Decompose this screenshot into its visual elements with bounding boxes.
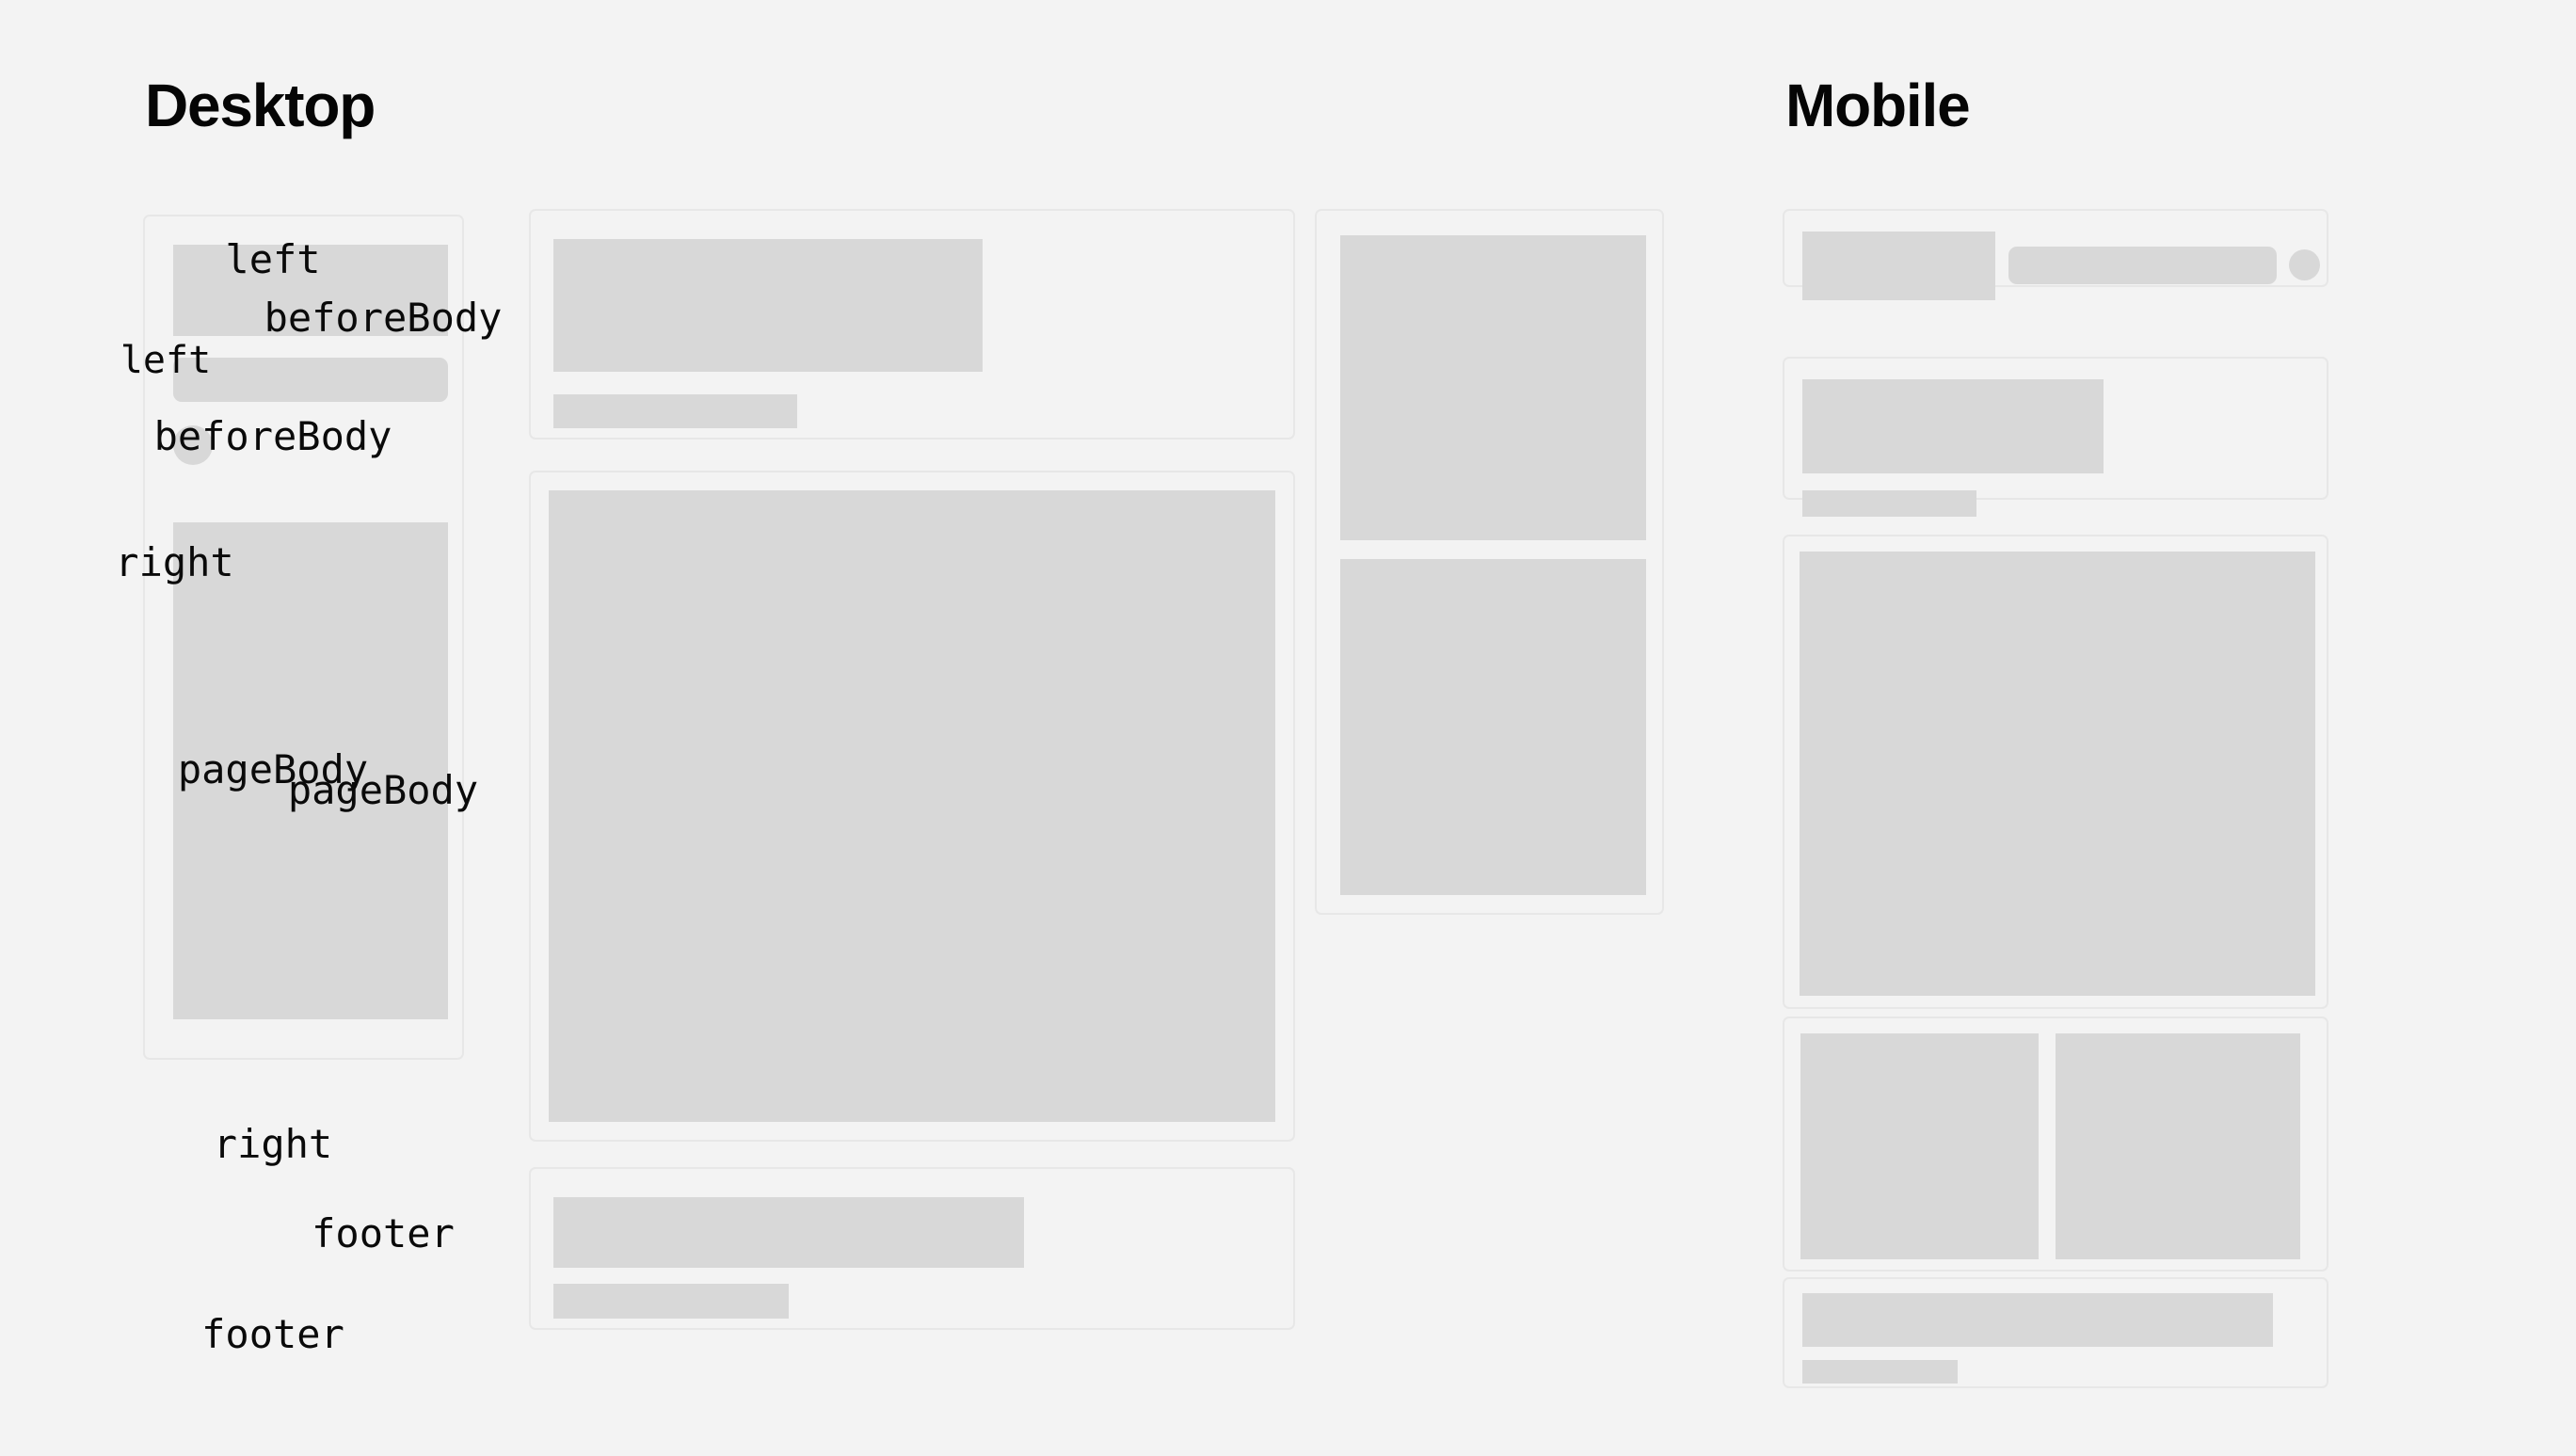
placeholder-bar	[2008, 247, 2277, 284]
placeholder-block	[553, 239, 983, 372]
desktop-section-title: Desktop	[145, 75, 375, 136]
placeholder-block	[1340, 559, 1646, 895]
desktop-slot-right-panel[interactable]	[1315, 209, 1664, 915]
placeholder-bar	[1802, 490, 1976, 517]
placeholder-block	[1802, 232, 1995, 300]
placeholder-block	[1800, 552, 2315, 996]
mobile-slot-left-panel[interactable]	[1783, 209, 2328, 287]
placeholder-block	[553, 1197, 1024, 1268]
placeholder-block	[1802, 1293, 2273, 1347]
mobile-slot-pagebody-panel[interactable]	[1783, 535, 2328, 1009]
placeholder-circle-icon	[2289, 249, 2320, 280]
placeholder-block	[549, 490, 1275, 1122]
desktop-slot-pagebody-panel[interactable]	[529, 471, 1295, 1142]
mobile-slot-footer-label: footer	[0, 1315, 546, 1354]
placeholder-circle-icon	[173, 425, 213, 465]
mobile-section-title: Mobile	[1785, 75, 1969, 136]
placeholder-block	[1340, 235, 1646, 540]
placeholder-block	[1800, 1033, 2039, 1259]
placeholder-block	[173, 245, 448, 336]
placeholder-bar	[1802, 1360, 1958, 1384]
placeholder-block	[1802, 379, 2104, 473]
layout-preview-stage: Desktop left beforeBody pageBody footer …	[0, 0, 2576, 1456]
mobile-slot-beforebody-panel[interactable]	[1783, 357, 2328, 500]
desktop-slot-footer-panel[interactable]	[529, 1167, 1295, 1330]
desktop-slot-beforebody-panel[interactable]	[529, 209, 1295, 440]
desktop-slot-left-panel[interactable]	[143, 215, 464, 1060]
placeholder-bar	[173, 358, 448, 402]
placeholder-block	[173, 522, 448, 1019]
placeholder-bar	[553, 394, 797, 428]
mobile-slot-right-label: right	[0, 1125, 546, 1164]
placeholder-block	[2056, 1033, 2300, 1259]
mobile-slot-footer-panel[interactable]	[1783, 1277, 2328, 1388]
mobile-slot-right-panel[interactable]	[1783, 1016, 2328, 1272]
placeholder-bar	[553, 1284, 789, 1319]
